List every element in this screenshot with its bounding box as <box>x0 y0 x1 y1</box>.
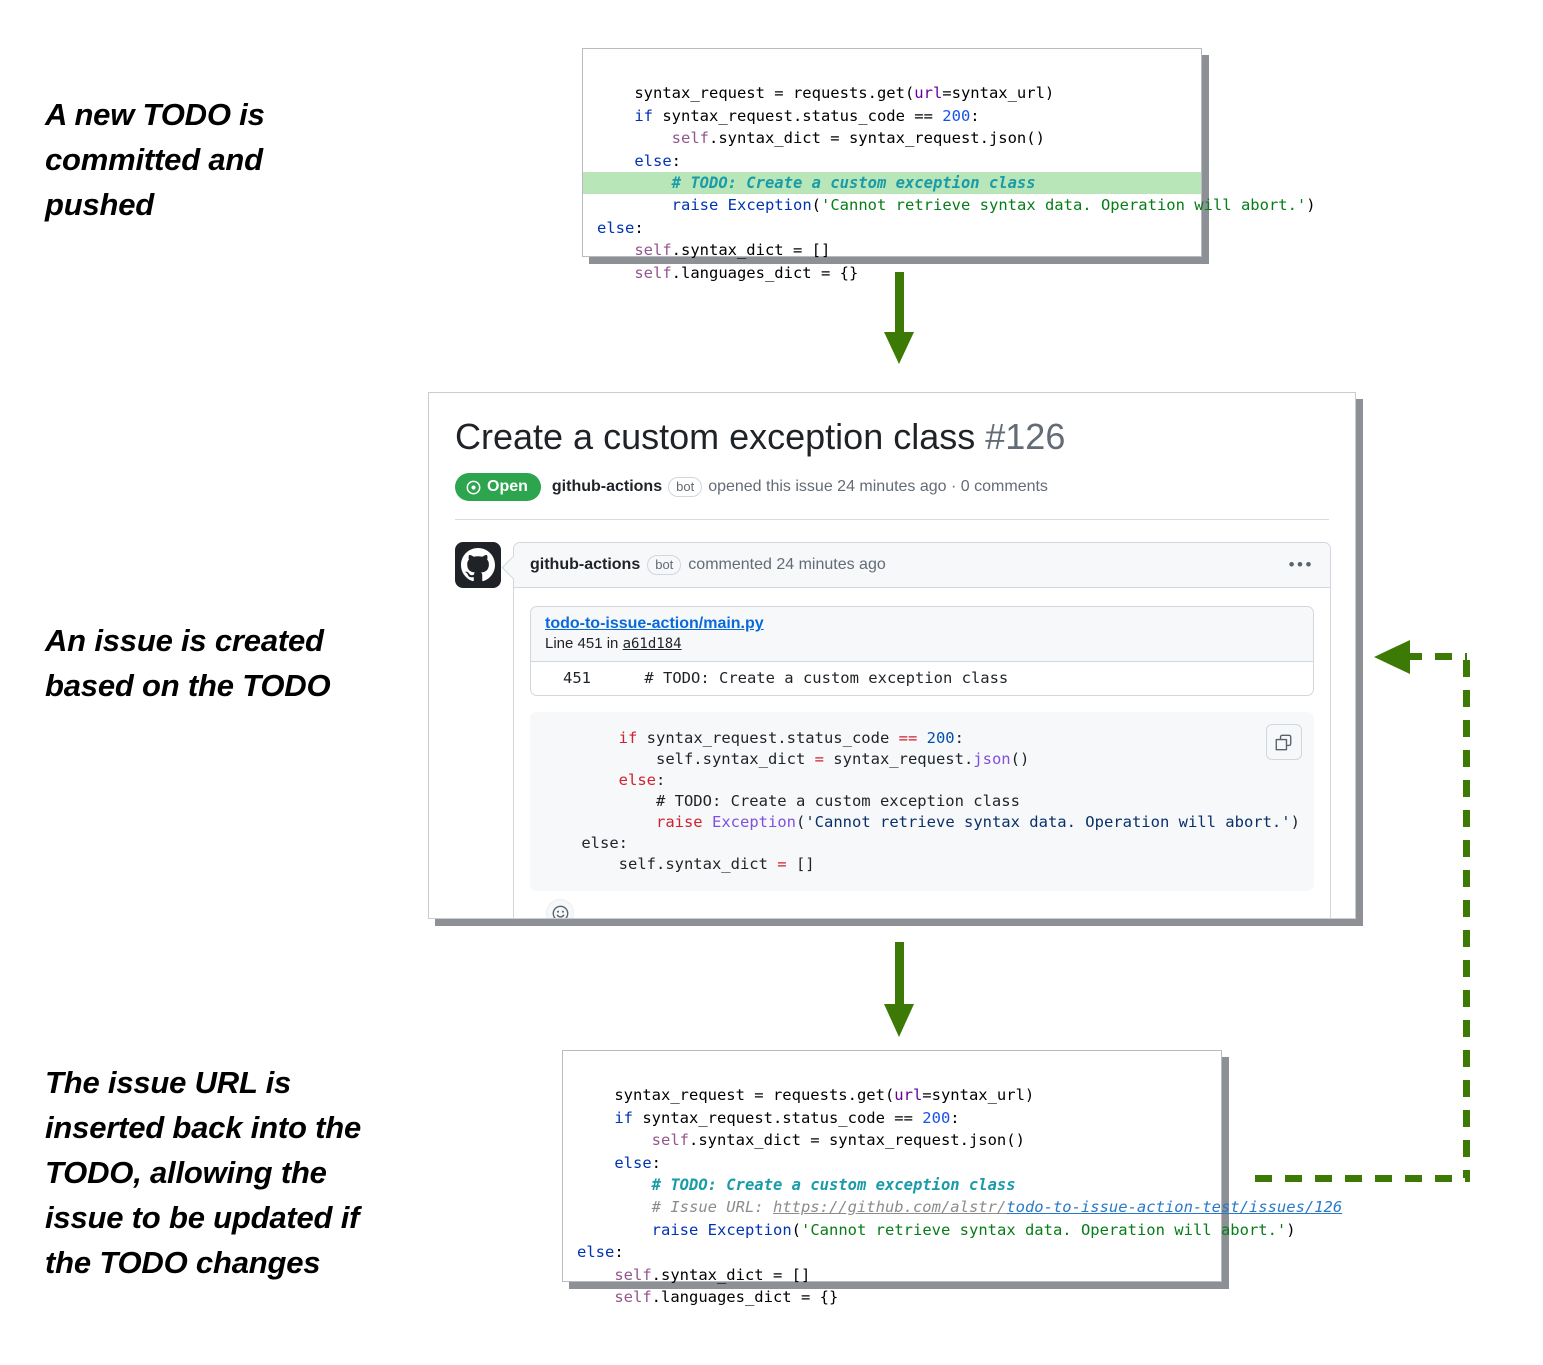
status-badge-label: Open <box>487 478 528 496</box>
code-preview-block: if syntax_request.status_code == 200: se… <box>530 712 1314 891</box>
copy-button[interactable] <box>1266 724 1302 760</box>
snippet-file-link[interactable]: todo-to-issue-action/main.py <box>545 615 1299 633</box>
code-line-todo: # TODO: Create a custom exception class <box>577 1174 1207 1196</box>
bottom-code-content: syntax_request = requests.get(url=syntax… <box>563 1051 1221 1365</box>
code-line: else: <box>597 217 1187 239</box>
comment-box: github-actions bot commented 24 minutes … <box>513 542 1331 919</box>
arrow-stem <box>895 272 904 338</box>
github-issue-card: Create a custom exception class #126 Ope… <box>428 392 1356 919</box>
issue-header: Create a custom exception class #126 Ope… <box>429 393 1355 520</box>
snippet-line-source: # TODO: Create a custom exception class <box>607 669 1008 687</box>
caption-step-3: The issue URL is inserted back into the … <box>45 1060 395 1285</box>
feedback-path-top-segment <box>1405 653 1467 660</box>
caption-step-2-text: An issue is created based on the TODO <box>45 623 330 703</box>
comment-header: github-actions bot commented 24 minutes … <box>514 543 1330 588</box>
snippet-code-row: 451 # TODO: Create a custom exception cl… <box>531 662 1313 695</box>
code-line: else: <box>597 150 1187 172</box>
code-line: if syntax_request.status_code == 200: <box>597 105 1187 127</box>
feedback-path-right-segment <box>1463 660 1470 1178</box>
issue-opened-text: opened this issue 24 minutes ago · 0 com… <box>708 478 1048 496</box>
avatar[interactable] <box>455 542 501 588</box>
code-line: self.syntax_dict = [] <box>597 239 1187 261</box>
code-snippet-reference: todo-to-issue-action/main.py Line 451 in… <box>530 606 1314 696</box>
status-badge[interactable]: Open <box>455 473 541 501</box>
caption-step-1-text: A new TODO is committed and pushed <box>45 97 265 222</box>
arrow-head-down-icon <box>884 332 914 364</box>
arrow-commit-to-issue <box>884 272 914 364</box>
code-line: syntax_request = requests.get(url=syntax… <box>597 82 1187 104</box>
issue-title-text: Create a custom exception class <box>455 416 975 457</box>
reaction-row <box>530 891 1314 919</box>
comment-bot-tag: bot <box>647 555 681 575</box>
issue-meta-row: Open github-actions bot opened this issu… <box>455 473 1329 520</box>
issue-number: #126 <box>985 416 1065 457</box>
smiley-icon <box>552 905 569 919</box>
code-line: else: <box>577 1241 1207 1263</box>
issue-meta-text: github-actions bot opened this issue 24 … <box>552 477 1048 497</box>
snippet-line-number: 451 <box>531 669 607 687</box>
github-octocat-icon <box>461 548 495 582</box>
feedback-path-bottom-segment <box>1255 1175 1470 1182</box>
top-code-panel: syntax_request = requests.get(url=syntax… <box>582 48 1202 257</box>
comment-author[interactable]: github-actions <box>530 556 640 574</box>
snippet-commit-link[interactable]: a61d184 <box>623 636 682 652</box>
code-line: self.syntax_dict = [] <box>577 1264 1207 1286</box>
comment-author-row: github-actions bot commented 24 minutes … <box>530 555 886 575</box>
code-line: self.syntax_dict = syntax_request.json() <box>577 1129 1207 1151</box>
issue-author[interactable]: github-actions <box>552 478 662 496</box>
code-line-todo-highlighted: # TODO: Create a custom exception class <box>583 172 1201 194</box>
page-title: Create a custom exception class #126 <box>455 415 1329 458</box>
code-line: self.syntax_dict = syntax_request.json() <box>597 127 1187 149</box>
arrow-head-left-icon <box>1374 640 1410 674</box>
issue-url-suffix[interactable]: todo-to-issue-action-test/issues/126 <box>1006 1198 1342 1216</box>
snippet-header: todo-to-issue-action/main.py Line 451 in… <box>531 607 1313 662</box>
code-line: raise Exception('Cannot retrieve syntax … <box>597 194 1187 216</box>
copy-icon <box>1275 734 1292 751</box>
issue-opened-icon <box>466 480 481 495</box>
code-line: self.languages_dict = {} <box>577 1286 1207 1308</box>
caption-step-1: A new TODO is committed and pushed <box>45 92 335 227</box>
comment-action-text: commented 24 minutes ago <box>688 556 885 574</box>
code-line-issue-url: # Issue URL: https://github.com/alstr/to… <box>577 1196 1207 1218</box>
add-reaction-button[interactable] <box>546 899 574 919</box>
arrow-head-down-icon <box>884 1004 914 1037</box>
bot-tag: bot <box>668 477 702 497</box>
code-line: if syntax_request.status_code == 200: <box>577 1107 1207 1129</box>
snippet-line-info: Line 451 in a61d184 <box>545 635 1299 652</box>
arrow-stem <box>895 942 904 1010</box>
comment-row: github-actions bot commented 24 minutes … <box>429 520 1355 919</box>
caption-step-2: An issue is created based on the TODO <box>45 618 385 708</box>
code-line: else: <box>577 1152 1207 1174</box>
bottom-code-panel: syntax_request = requests.get(url=syntax… <box>562 1050 1222 1282</box>
snippet-line-prefix: Line 451 in <box>545 635 623 652</box>
arrow-issue-to-url <box>884 942 914 1038</box>
caption-step-3-text: The issue URL is inserted back into the … <box>45 1065 361 1280</box>
code-preview-text: if syntax_request.status_code == 200: se… <box>544 728 1300 875</box>
issue-url-prefix[interactable]: https://github.com/alstr/ <box>773 1198 1006 1216</box>
code-line: syntax_request = requests.get(url=syntax… <box>577 1084 1207 1106</box>
comment-body: todo-to-issue-action/main.py Line 451 in… <box>514 588 1330 919</box>
comment-menu-icon[interactable]: ••• <box>1289 560 1314 570</box>
code-line: raise Exception('Cannot retrieve syntax … <box>577 1219 1207 1241</box>
